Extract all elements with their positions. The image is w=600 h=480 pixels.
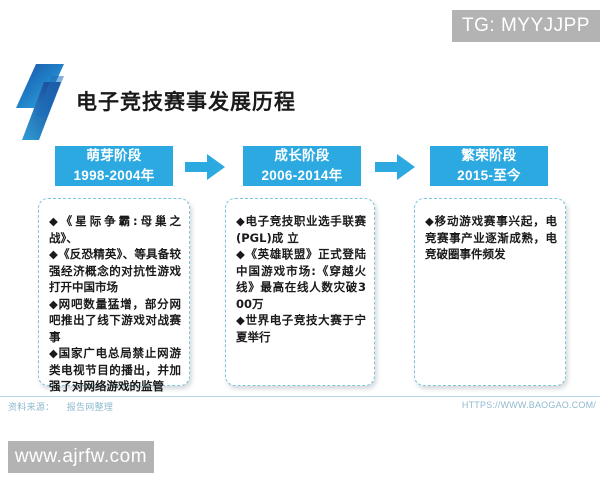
- slide-canvas: TG: MYYJJPP 电子竞技赛事发展历程 萌芽阶段 1998-: [0, 0, 600, 480]
- stage-name-2: 繁荣阶段: [461, 147, 516, 166]
- bullet-item: ◆国家广电总局禁止网游类电视节目的播出，并加强了对网络游戏的监管: [49, 345, 181, 395]
- bullet-item: ◆《英雄联盟》正式登陆中国游戏市场:《穿越火线》最高在线人数灾破300万: [236, 246, 366, 312]
- bullet-item: ◆电子竞技职业选手联赛(PGL)成 立: [236, 213, 366, 246]
- watermark-top-right: TG: MYYJJPP: [452, 10, 600, 42]
- stage-content-box-2: ◆移动游戏赛事兴起，电竞赛事产业逐渐成熟，电竞破圈事件频发: [414, 198, 566, 386]
- bullet-item: ◆世界电子竞技大赛于宁夏举行: [236, 312, 366, 345]
- stage-period-1: 2006-2014年: [261, 166, 342, 185]
- stage-period-2: 2015-至今: [457, 166, 521, 185]
- right-arrow-icon: [375, 154, 415, 180]
- footer-source-value: 报告网整理: [67, 403, 114, 413]
- stage-period-0: 1998-2004年: [73, 166, 154, 185]
- bullet-item: ◆《星际争霸:母巢之战》、: [49, 213, 181, 246]
- bullet-list-0: ◆《星际争霸:母巢之战》、 ◆《反恐精英》、等具备较强经济概念的对抗性游戏打开中…: [49, 213, 181, 395]
- bullet-item: ◆《反恐精英》、等具备较强经济概念的对抗性游戏打开中国市场: [49, 246, 181, 296]
- page-title: 电子竞技赛事发展历程: [76, 86, 296, 116]
- footer-source: 资料来源： 报告网整理: [8, 400, 113, 413]
- stage-name-0: 萌芽阶段: [86, 147, 141, 166]
- stage-content-box-0: ◆《星际争霸:母巢之战》、 ◆《反恐精英》、等具备较强经济概念的对抗性游戏打开中…: [38, 198, 190, 386]
- bullet-list-1: ◆电子竞技职业选手联赛(PGL)成 立 ◆《英雄联盟》正式登陆中国游戏市场:《穿…: [236, 213, 366, 345]
- stage-header-2: 繁荣阶段 2015-至今: [430, 146, 548, 186]
- bullet-list-2: ◆移动游戏赛事兴起，电竞赛事产业逐渐成熟，电竞破圈事件频发: [425, 213, 557, 263]
- footer-url: HTTPS://WWW.BAOGAO.COM/: [462, 400, 596, 410]
- blue-slash-logo-icon: [14, 64, 72, 140]
- stage-header-1: 成长阶段 2006-2014年: [243, 146, 361, 186]
- watermark-bottom-left: www.ajrfw.com: [8, 441, 154, 473]
- right-arrow-icon: [185, 154, 225, 180]
- bullet-item: ◆移动游戏赛事兴起，电竞赛事产业逐渐成熟，电竞破圈事件频发: [425, 213, 557, 263]
- bullet-item: ◆网吧数量猛增，部分网吧推出了线下游戏对战赛事: [49, 296, 181, 346]
- footer-source-label: 资料来源：: [8, 403, 55, 413]
- stage-content-box-1: ◆电子竞技职业选手联赛(PGL)成 立 ◆《英雄联盟》正式登陆中国游戏市场:《穿…: [225, 198, 375, 386]
- stage-name-1: 成长阶段: [274, 147, 329, 166]
- stage-header-0: 萌芽阶段 1998-2004年: [55, 146, 173, 186]
- footer-divider: [0, 396, 600, 397]
